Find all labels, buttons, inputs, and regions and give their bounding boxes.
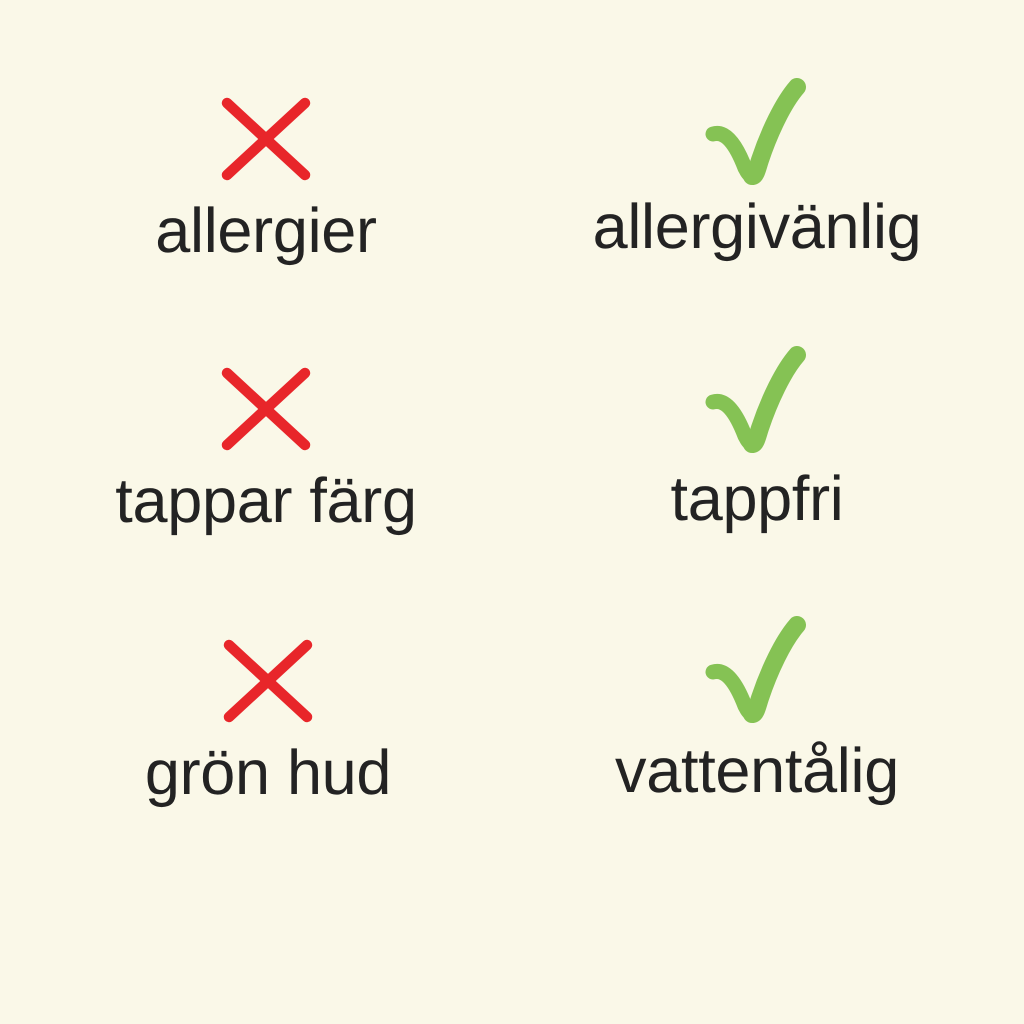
feature-label-positive-3: vattentålig xyxy=(615,740,899,803)
check-icon xyxy=(702,616,812,726)
feature-label-negative-2: tappar färg xyxy=(115,470,416,533)
feature-cell-positive-3: vattentålig xyxy=(512,620,1024,892)
feature-cell-negative-1: allergier xyxy=(0,84,512,348)
feature-label-positive-1: allergivänlig xyxy=(593,196,922,259)
feature-cell-positive-1: allergivänlig xyxy=(512,84,1024,348)
feature-comparison-grid: allergier allergivänlig tap xyxy=(0,84,1024,892)
feature-cell-negative-3: grön hud xyxy=(0,620,512,892)
cross-icon xyxy=(211,354,321,464)
feature-cell-negative-2: tappar färg xyxy=(0,348,512,620)
feature-cell-positive-2: tappfri xyxy=(512,348,1024,620)
cross-icon xyxy=(211,84,321,194)
check-icon xyxy=(702,78,812,188)
cross-icon xyxy=(213,626,323,736)
feature-label-negative-1: allergier xyxy=(155,200,376,263)
feature-label-positive-2: tappfri xyxy=(671,468,844,531)
comparison-board: allergier allergivänlig tap xyxy=(0,0,1024,1024)
check-icon xyxy=(702,346,812,456)
feature-label-negative-3: grön hud xyxy=(145,742,391,805)
